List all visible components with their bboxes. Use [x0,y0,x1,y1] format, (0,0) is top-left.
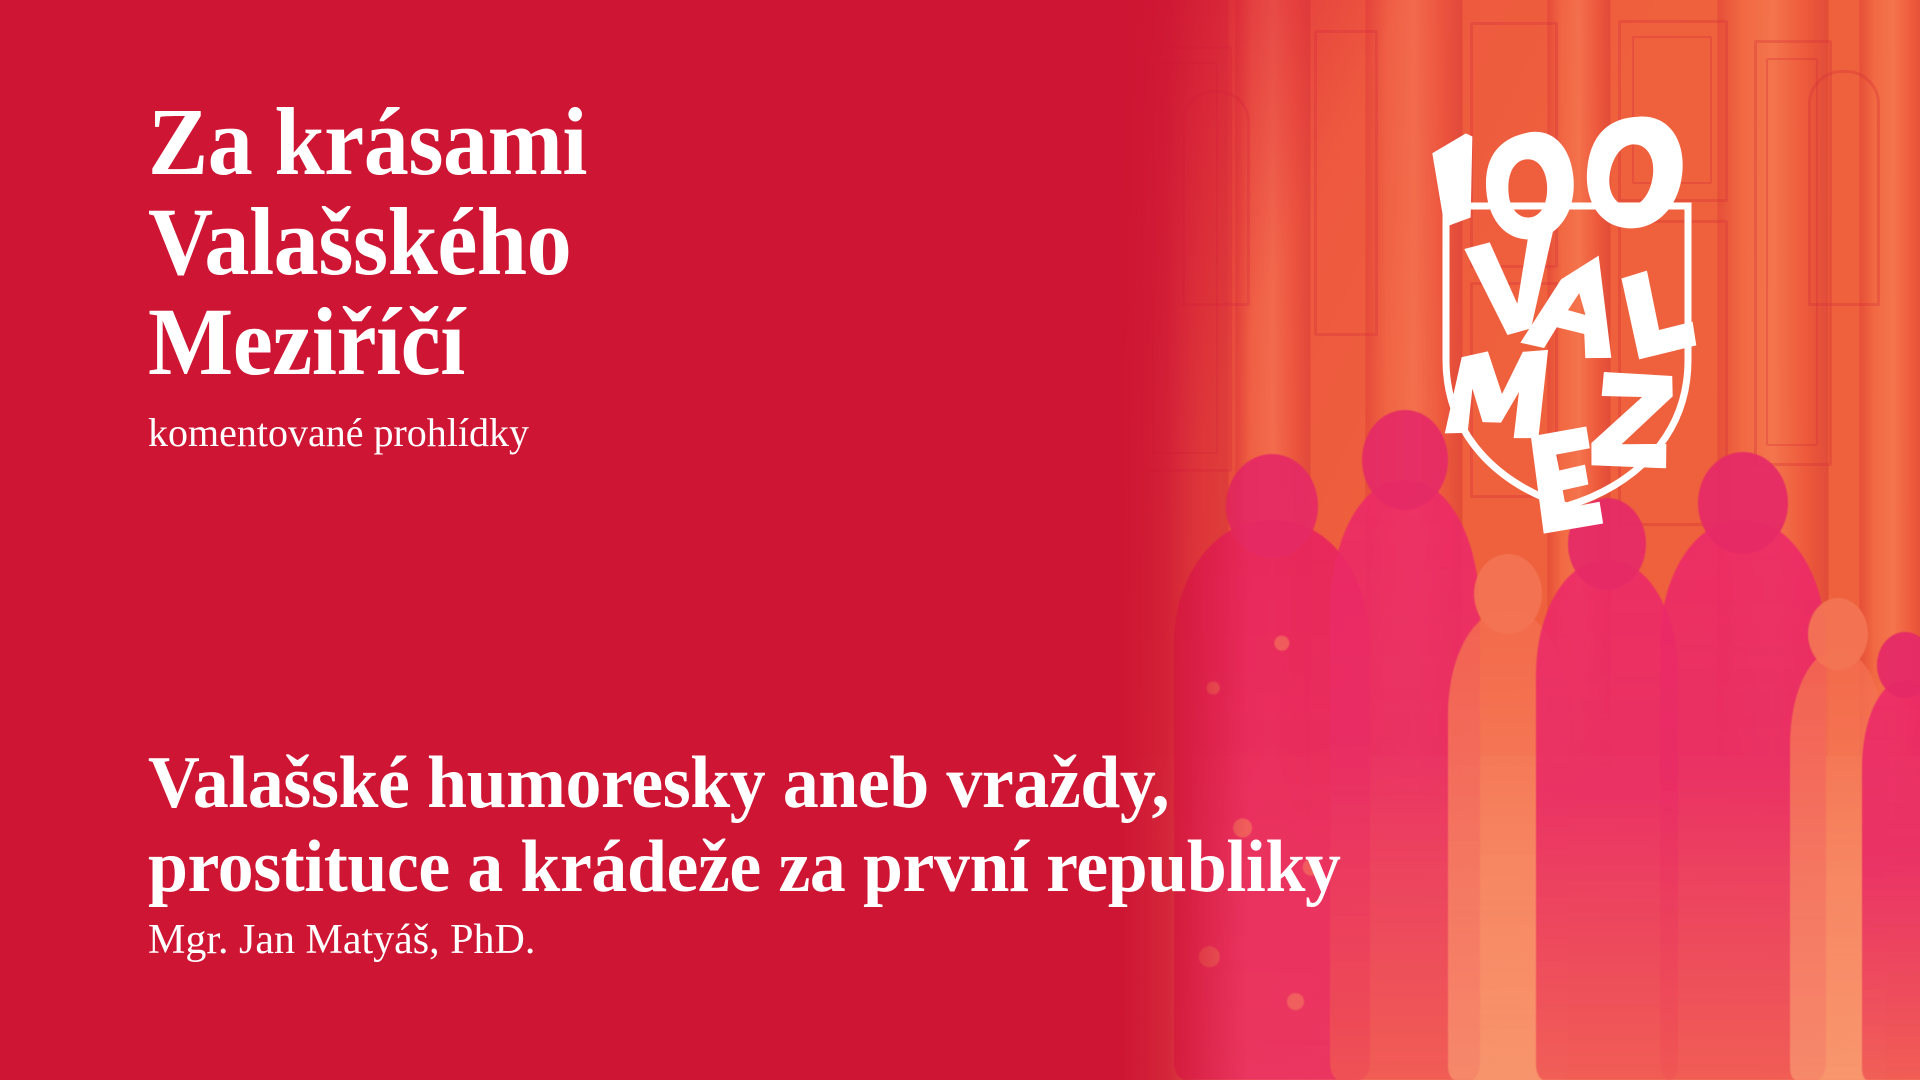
poster-canvas: Za krásami Valašského Meziříčí komentova… [0,0,1920,1080]
title-block: Za krásami Valašského Meziříčí komentova… [148,92,1148,455]
page-title: Za krásami Valašského Meziříčí [148,92,1088,391]
lecturer-name: Mgr. Jan Matyáš, PhD. [148,917,1788,963]
title-subtitle: komentované prohlídky [148,411,1148,455]
valmez-100-shield-logo [1402,78,1732,578]
lecture-title: Valašské humoresky aneb vraždy, prostitu… [148,742,1739,909]
lecture-block: Valašské humoresky aneb vraždy, prostitu… [148,742,1788,963]
